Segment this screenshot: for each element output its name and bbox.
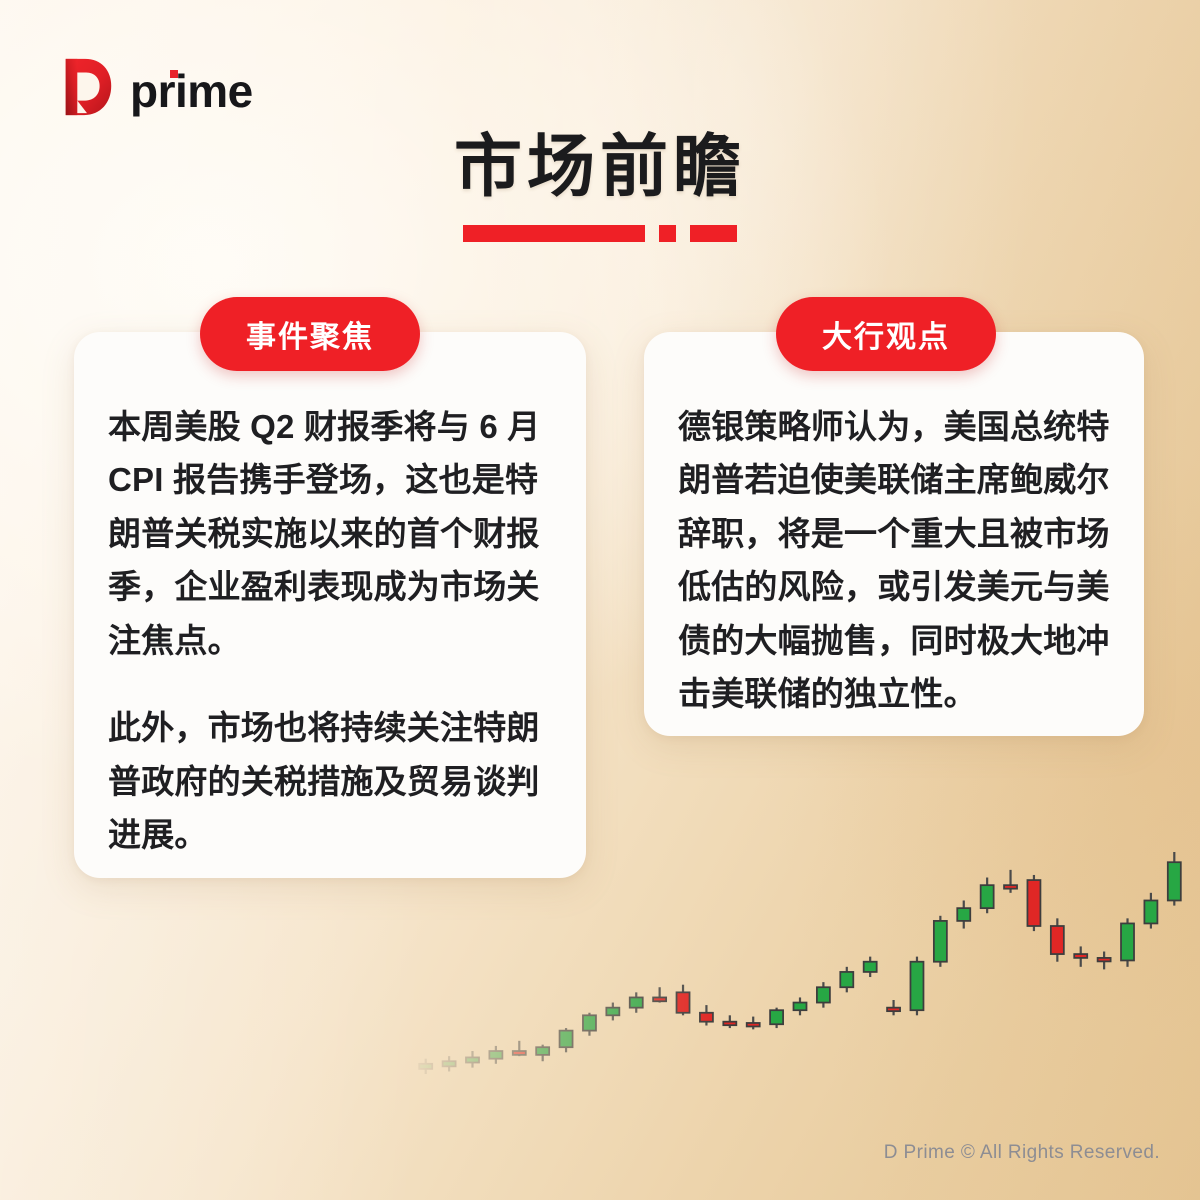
poster-root: prime 市场前瞻 事件聚焦 本周美股 Q2 财报季将与 6 月 CPI 报告… [0, 0, 1200, 1200]
card-event-focus: 事件聚焦 本周美股 Q2 财报季将与 6 月 CPI 报告携手登场，这也是特朗普… [74, 332, 586, 878]
divider-segment-short [690, 225, 737, 242]
card-paragraph: 此外，市场也将持续关注特朗普政府的关税措施及贸易谈判进展。 [108, 701, 552, 861]
card-badge-bank-view: 大行观点 [776, 297, 996, 371]
footer-copyright: D Prime © All Rights Reserved. [884, 1142, 1160, 1164]
divider-segment-long [463, 225, 645, 242]
page-title: 市场前瞻 [0, 132, 1200, 203]
card-body-event-focus: 本周美股 Q2 财报季将与 6 月 CPI 报告携手登场，这也是特朗普关税实施以… [74, 332, 586, 890]
d-prime-logo-icon [56, 56, 118, 118]
divider-segment-dot [659, 225, 676, 242]
card-body-bank-view: 德银策略师认为，美国总统特朗普若迫使美联储主席鲍威尔辞职，将是一个重大且被市场低… [644, 332, 1144, 749]
header: 市场前瞻 [0, 132, 1200, 242]
brand-logo: prime [56, 56, 253, 118]
logo-i-dot-icon [170, 70, 178, 78]
card-paragraph: 本周美股 Q2 财报季将与 6 月 CPI 报告携手登场，这也是特朗普关税实施以… [108, 400, 552, 667]
card-badge-event-focus: 事件聚焦 [200, 297, 420, 371]
card-bank-view: 大行观点 德银策略师认为，美国总统特朗普若迫使美联储主席鲍威尔辞职，将是一个重大… [644, 332, 1144, 736]
logo-wordmark: prime [130, 68, 253, 114]
card-paragraph: 德银策略师认为，美国总统特朗普若迫使美联储主席鲍威尔辞职，将是一个重大且被市场低… [678, 400, 1110, 721]
title-divider [450, 225, 750, 242]
